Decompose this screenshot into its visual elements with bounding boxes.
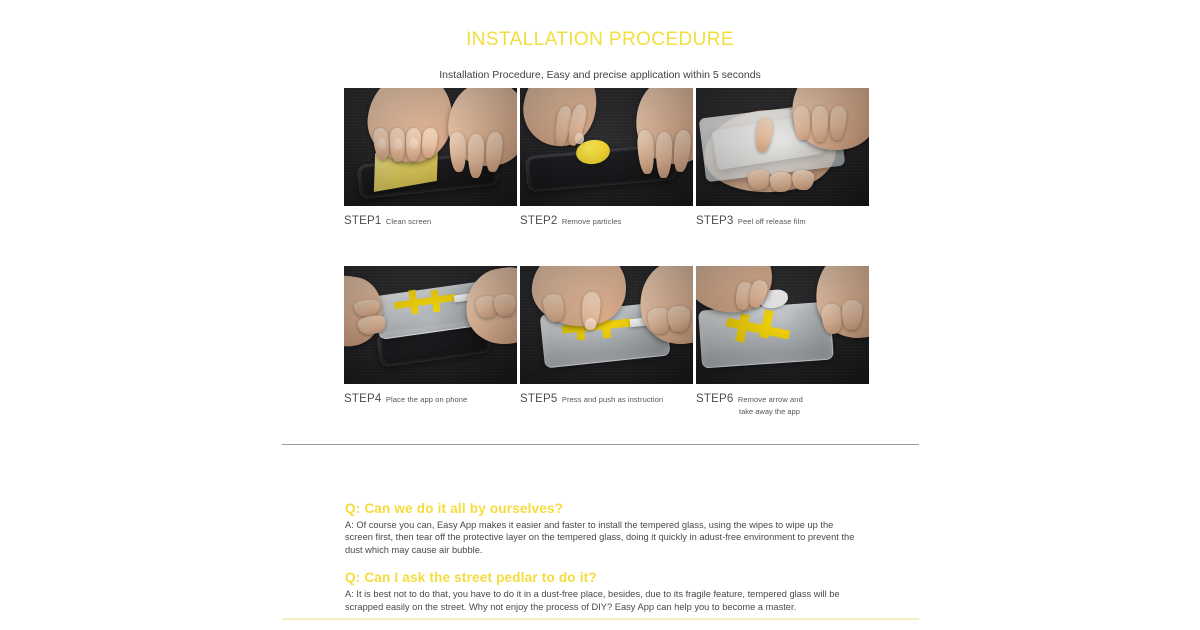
photo-vignette [520,266,693,384]
faq-item-1: Q: Can we do it all by ourselves? A: Of … [345,500,855,556]
page-title: INSTALLATION PROCEDURE [0,28,1200,52]
step-photo-4 [344,266,517,384]
photo-vignette [344,88,517,206]
step-number: STEP1 [344,215,381,227]
faq-question: Q: Can we do it all by ourselves? [345,500,855,517]
page-subtitle: Installation Procedure, Easy and precise… [0,52,1200,82]
step-description: Place the app on phone [386,395,467,404]
faq-answer: A: It is best not to do that, you have t… [345,586,855,613]
step-caption-1: STEP1 Clean screen [344,206,517,228]
step-cell-6: STEP6 Remove arrow and take away the app [696,266,869,417]
step-photo-5 [520,266,693,384]
step-number: STEP2 [520,215,557,227]
step-number: STEP3 [696,215,733,227]
photo-vignette [696,266,869,384]
faq-item-2: Q: Can I ask the street pedlar to do it?… [345,556,855,613]
faq-section: Q: Can we do it all by ourselves? A: Of … [345,500,855,613]
step-cell-4: STEP4 Place the app on phone [344,266,517,417]
step-photo-3 [696,88,869,206]
step-caption-3: STEP3 Peel off release film [696,206,869,228]
step-cell-2: STEP2 Remove particles [520,88,693,228]
steps-row-2: STEP4 Place the app on phone [344,266,870,417]
step-number: STEP5 [520,393,557,405]
step-description-line2: take away the app [696,406,869,417]
photo-vignette [344,266,517,384]
photo-vignette [520,88,693,206]
step-caption-5: STEP5 Press and push as instruction [520,384,693,406]
installation-procedure-page: INSTALLATION PROCEDURE Installation Proc… [0,0,1200,630]
photo-vignette [696,88,869,206]
steps-row-1: STEP1 Clean screen [344,88,870,228]
section-divider [282,444,919,445]
steps-grid: STEP1 Clean screen [344,88,870,417]
step-description: Remove arrow and [738,395,803,404]
step-description: Press and push as instruction [562,395,663,404]
bottom-rule [282,618,919,620]
step-number: STEP4 [344,393,381,405]
step-cell-5: STEP5 Press and push as instruction [520,266,693,417]
step-description: Remove particles [562,217,622,226]
step-description: Clean screen [386,217,431,226]
step-photo-2 [520,88,693,206]
step-caption-4: STEP4 Place the app on phone [344,384,517,406]
faq-answer: A: Of course you can, Easy App makes it … [345,517,855,556]
step-cell-3: STEP3 Peel off release film [696,88,869,228]
page-header: INSTALLATION PROCEDURE Installation Proc… [0,28,1200,82]
step-caption-6: STEP6 Remove arrow and take away the app [696,384,869,417]
step-cell-1: STEP1 Clean screen [344,88,517,228]
step-description: Peel off release film [738,217,806,226]
step-photo-6 [696,266,869,384]
step-number: STEP6 [696,393,733,405]
step-caption-2: STEP2 Remove particles [520,206,693,228]
step-photo-1 [344,88,517,206]
faq-question: Q: Can I ask the street pedlar to do it? [345,569,855,586]
